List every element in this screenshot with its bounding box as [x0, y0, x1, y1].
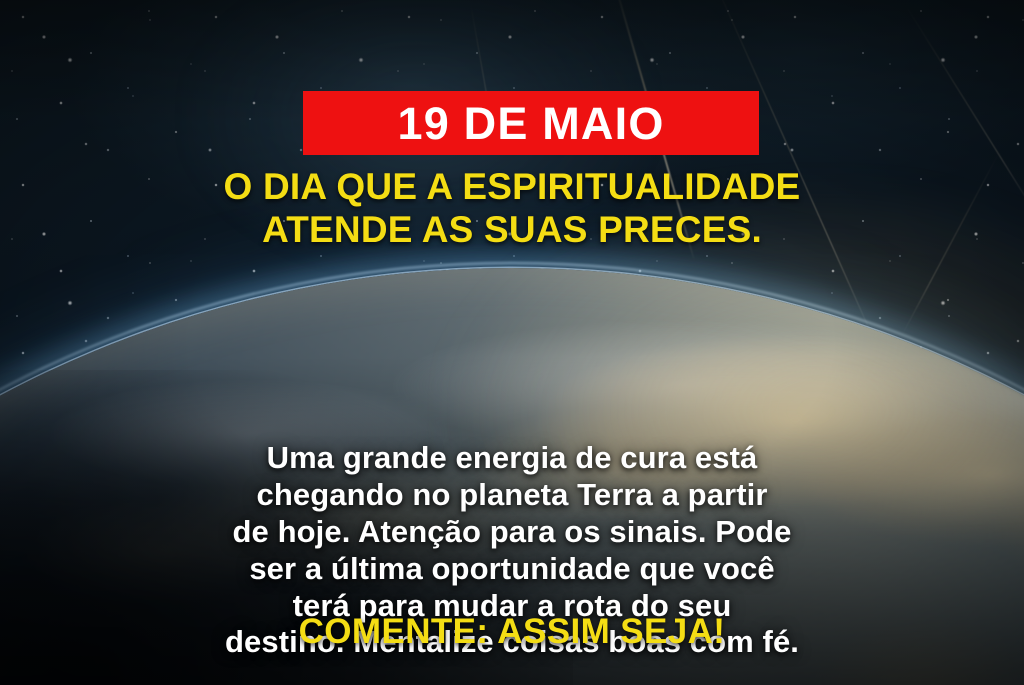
- text-content-layer: 19 DE MAIO O DIA QUE A ESPIRITUALIDADE A…: [0, 0, 1024, 685]
- date-banner: 19 DE MAIO: [303, 91, 759, 155]
- call-to-action: COMENTE: ASSIM SEJA!: [0, 612, 1024, 652]
- body-line-2: chegando no planeta Terra a partir: [257, 477, 768, 512]
- headline: O DIA QUE A ESPIRITUALIDADE ATENDE AS SU…: [0, 166, 1024, 251]
- body-line-1: Uma grande energia de cura está: [267, 440, 758, 475]
- body-line-4: ser a última oportunidade que você: [249, 551, 774, 586]
- date-banner-text: 19 DE MAIO: [397, 101, 664, 146]
- cta-text: COMENTE: ASSIM SEJA!: [299, 612, 726, 651]
- headline-line-2: ATENDE AS SUAS PRECES.: [0, 209, 1024, 252]
- poster-canvas: 19 DE MAIO O DIA QUE A ESPIRITUALIDADE A…: [0, 0, 1024, 685]
- headline-line-1: O DIA QUE A ESPIRITUALIDADE: [224, 166, 801, 207]
- body-line-3: de hoje. Atenção para os sinais. Pode: [233, 514, 792, 549]
